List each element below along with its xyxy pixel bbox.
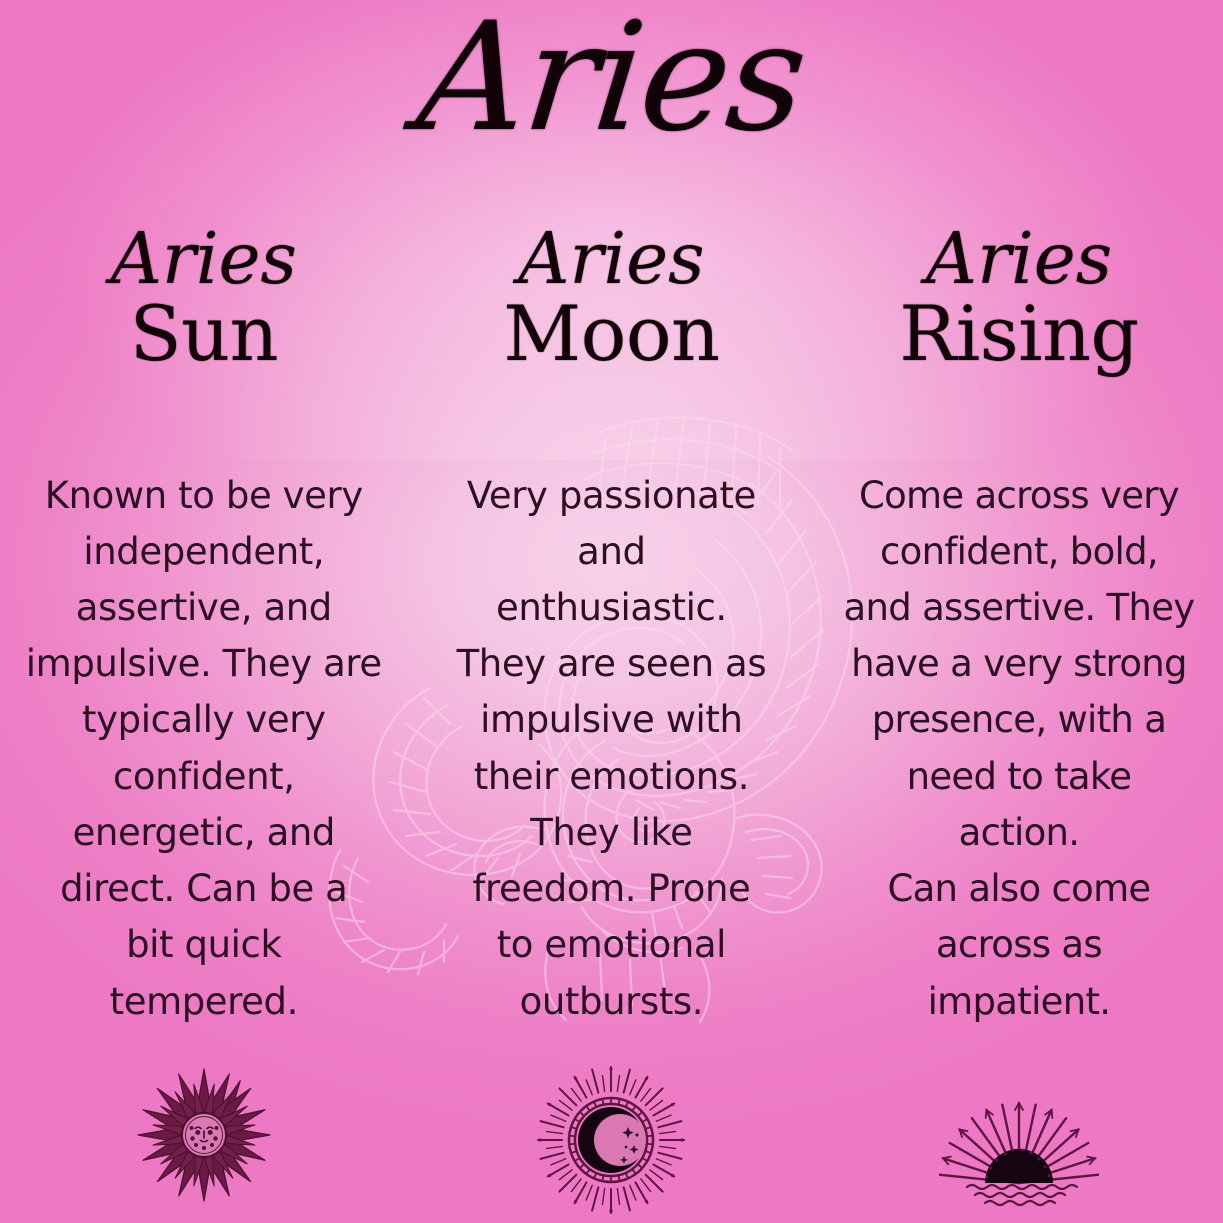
sign-name-rising: Aries (819, 224, 1219, 294)
icon-cell-rising (815, 1063, 1223, 1223)
description-rising: Come across very confident, bold, and as… (819, 468, 1219, 1030)
column-aries-sun: Aries Sun Known to be very independent, … (0, 224, 408, 1030)
icon-cell-moon (408, 1063, 816, 1223)
column-heading-rising: Aries Rising (819, 224, 1219, 372)
bottom-icons-row (0, 1063, 1223, 1223)
column-aries-moon: Aries Moon Very passionate and enthusias… (408, 224, 816, 1030)
column-aries-rising: Aries Rising Come across very confident,… (815, 224, 1223, 1030)
sign-name-moon: Aries (412, 224, 812, 294)
column-heading-moon: Aries Moon (412, 224, 812, 372)
icon-cell-sun (0, 1063, 408, 1223)
columns-container: Aries Sun Known to be very independent, … (0, 224, 1223, 1030)
sun-face-icon (134, 1065, 274, 1205)
luminary-name-moon: Moon (412, 296, 812, 371)
column-heading-sun: Aries Sun (4, 224, 404, 372)
rising-sun-icon (939, 1097, 1099, 1207)
luminary-name-sun: Sun (4, 296, 404, 371)
luminary-name-rising: Rising (819, 296, 1219, 371)
description-moon: Very passionate and enthusiastic. They a… (412, 468, 812, 1030)
description-sun: Known to be very independent, assertive,… (4, 468, 404, 1030)
sign-name-sun: Aries (4, 224, 404, 294)
crescent-moon-icon (536, 1065, 686, 1215)
page-title: Aries (0, 0, 1223, 162)
aries-astrology-poster: Aries Aries Sun Known to be very indepen… (0, 0, 1223, 1223)
